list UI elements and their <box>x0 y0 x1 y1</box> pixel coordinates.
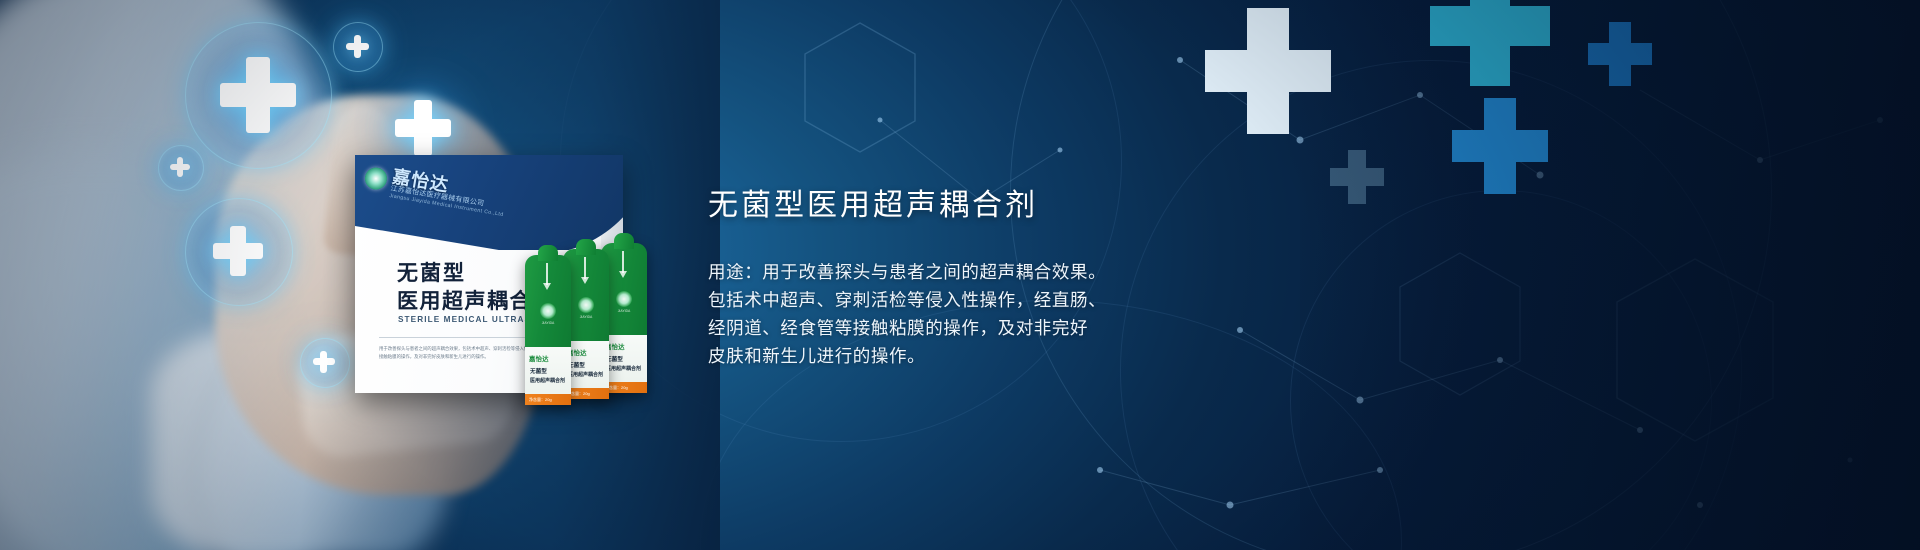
sachet-tear-arrow-icon <box>622 251 624 273</box>
sachet-front: JIAYIDA 嘉怡达 无菌型 医用超声耦合剂 净含量：20g <box>525 255 571 405</box>
sachet-tear-arrow-icon <box>546 263 548 285</box>
sachet-name-line2: 医用超声耦合剂 <box>530 377 565 384</box>
sachet-logo-icon <box>540 303 556 319</box>
sachet-neck <box>614 233 634 249</box>
product-banner: 嘉怡达 江苏嘉怡达医疗器械有限公司 Jiangsu Jiayida Medica… <box>0 0 1920 550</box>
vignette-overlay <box>0 0 1920 550</box>
sachet-name-line2: 医用超声耦合剂 <box>568 371 603 378</box>
sachet-logo-text: JIAYIDA <box>533 321 563 325</box>
sachet-logo-icon <box>616 291 632 307</box>
sachet-neck <box>576 239 596 255</box>
sachet-tear-arrow-icon <box>584 257 586 279</box>
sachet-volume: 净含量：20g <box>529 397 552 403</box>
sachet-logo-text: JIAYIDA <box>609 309 639 313</box>
sachet-neck <box>538 245 558 261</box>
sachet-name-line2: 医用超声耦合剂 <box>606 365 641 372</box>
sachet-logo-text: JIAYIDA <box>571 315 601 319</box>
sachet-brand: 嘉怡达 <box>529 354 549 363</box>
sachet-name-line1: 无菌型 <box>530 367 547 375</box>
sachet-logo-icon <box>578 297 594 313</box>
